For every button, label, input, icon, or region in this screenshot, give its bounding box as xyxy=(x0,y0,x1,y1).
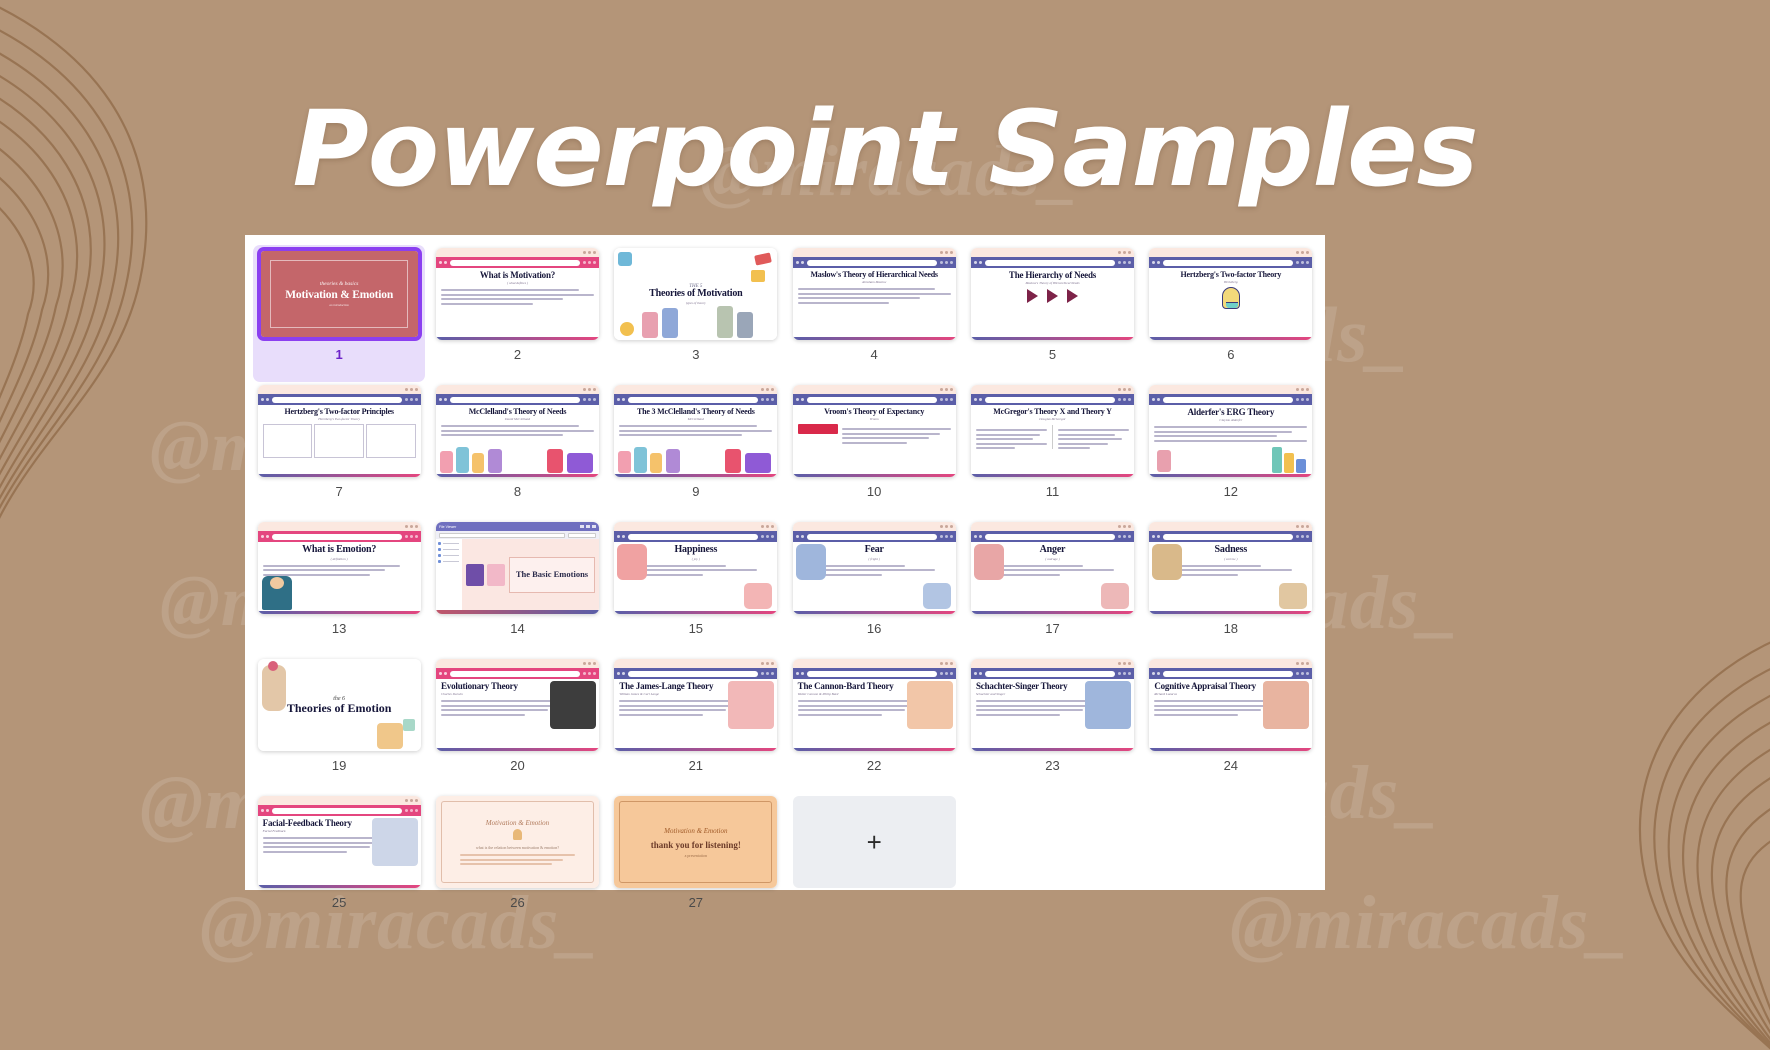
browser-titlebar xyxy=(971,659,1134,668)
slide-illustration xyxy=(456,447,469,473)
slide-thumbnail[interactable]: Sadness ( sorrow ) xyxy=(1149,522,1312,614)
browser-menu-icon xyxy=(940,261,953,264)
explorer-sidebar[interactable] xyxy=(436,539,462,610)
slide-footer-accent xyxy=(436,748,599,751)
browser-toolbar xyxy=(1149,668,1312,679)
slide-number: 16 xyxy=(867,621,881,636)
slide-footer-accent xyxy=(971,337,1134,340)
browser-nav-dots-icon xyxy=(439,261,447,264)
slide-body-text xyxy=(1058,429,1129,449)
slide-thumbnail-orange: Motivation & Emotion thank you for liste… xyxy=(614,796,777,888)
slide-thumbnail[interactable]: File Viewer The Basic Emotions xyxy=(436,522,599,614)
explorer-address-bar[interactable] xyxy=(439,533,565,538)
slide-subtitle: Hertzberg's Two-factor Theory xyxy=(263,417,416,421)
slide-illustration xyxy=(1101,583,1129,609)
slide-thumbnail-browser: Hertzberg's Two-factor Theory Hertzberg xyxy=(1149,248,1312,340)
slide-title: Hertzberg's Two-factor Theory xyxy=(1154,271,1307,279)
slide-content: Maslow's Theory of Hierarchical Needs Ab… xyxy=(793,268,956,337)
slide-thumbnail[interactable]: McClelland's Theory of Needs David McCle… xyxy=(436,385,599,477)
slide-footer-accent xyxy=(971,611,1134,614)
browser-toolbar xyxy=(1149,257,1312,268)
slide-cell-12[interactable]: Alderfer's ERG Theory Clayton Alderfer 1… xyxy=(1145,382,1317,519)
sidebar-item[interactable] xyxy=(438,548,460,551)
slide-content: The Cannon-Bard Theory Walter Cannon & P… xyxy=(793,679,956,748)
browser-toolbar xyxy=(614,394,777,405)
slide-cell-18[interactable]: Sadness ( sorrow ) 18 xyxy=(1145,519,1317,656)
slide-thumbnail[interactable]: Alderfer's ERG Theory Clayton Alderfer xyxy=(1149,385,1312,477)
slide-content: The Hierarchy of Needs Maslow's Theory o… xyxy=(971,268,1134,337)
slide-thumbnail[interactable]: Motivation & Emotion thank you for liste… xyxy=(614,796,777,888)
slide-number: 1 xyxy=(336,347,343,362)
browser-titlebar xyxy=(793,385,956,394)
browser-url-bar[interactable] xyxy=(272,808,402,814)
browser-url-bar[interactable] xyxy=(272,397,402,403)
slide-cell-3[interactable]: THE 5 Theories of Motivation types of th… xyxy=(610,245,782,382)
explorer-body: The Basic Emotions xyxy=(436,539,599,610)
slide-cell-20[interactable]: Evolutionary Theory Charles Darwin 20 xyxy=(431,656,603,793)
slide-cell-10[interactable]: Vroom's Theory of Expectancy Vroom 10 xyxy=(788,382,960,519)
slide-illustration xyxy=(923,583,951,609)
slide-number: 15 xyxy=(689,621,703,636)
slide-footer-accent xyxy=(793,748,956,751)
browser-nav-dots-icon xyxy=(1152,672,1160,675)
browser-nav-dots-icon xyxy=(974,672,982,675)
slide-illustration xyxy=(745,453,771,473)
browser-url-bar[interactable] xyxy=(628,397,758,403)
slide-cell-14[interactable]: File Viewer The Basic Emotions xyxy=(431,519,603,656)
slide-thumbnail-browser: McGregor's Theory X and Theory Y Douglas… xyxy=(971,385,1134,477)
slide-thumbnail[interactable]: THE 5 Theories of Motivation types of th… xyxy=(614,248,777,340)
swirl-bottom-right-icon xyxy=(1410,610,1770,1050)
slide-thumbnail[interactable]: Vroom's Theory of Expectancy Vroom xyxy=(793,385,956,477)
browser-nav-dots-icon xyxy=(617,672,625,675)
slide-number: 23 xyxy=(1045,758,1059,773)
slide-footer-accent xyxy=(971,748,1134,751)
slide-number: 25 xyxy=(332,895,346,910)
slide-footer-accent xyxy=(258,474,421,477)
slide-cell-8[interactable]: McClelland's Theory of Needs David McCle… xyxy=(431,382,603,519)
slide-footer-accent xyxy=(436,474,599,477)
slide-illustration xyxy=(754,252,772,265)
slide-thumbnail[interactable]: Schachter-Singer Theory Schachter and Si… xyxy=(971,659,1134,751)
slide-thumbnail[interactable]: Fear ( fright ) xyxy=(793,522,956,614)
sidebar-item[interactable] xyxy=(438,542,460,545)
slide-cell-13[interactable]: What is Emotion? ( definition ) 13 xyxy=(253,519,425,656)
slide-illustration xyxy=(751,270,765,282)
slide-thumbnail-cream: Motivation & Emotion what is the relatio… xyxy=(436,796,599,888)
slide-thumbnail[interactable]: McGregor's Theory X and Theory Y Douglas… xyxy=(971,385,1134,477)
browser-toolbar xyxy=(436,668,599,679)
browser-menu-icon xyxy=(1118,672,1131,675)
slide-thumbnail[interactable]: What is Motivation? ( what defines ) xyxy=(436,248,599,340)
slide-content: Sadness ( sorrow ) xyxy=(1149,542,1312,611)
slide-content: Fear ( fright ) xyxy=(793,542,956,611)
slide-thumbnail-browser: The Cannon-Bard Theory Walter Cannon & P… xyxy=(793,659,956,751)
browser-menu-icon xyxy=(1296,672,1309,675)
browser-nav-dots-icon xyxy=(261,535,269,538)
slide-footer-accent xyxy=(1149,748,1312,751)
file-thumbnail[interactable] xyxy=(466,564,484,586)
slide-thumbnail[interactable]: Cognitive Appraisal Theory Richard Lazar… xyxy=(1149,659,1312,751)
browser-menu-icon xyxy=(761,398,774,401)
browser-url-bar[interactable] xyxy=(807,671,937,677)
slide-thumbnail[interactable]: What is Emotion? ( definition ) xyxy=(258,522,421,614)
slide-content: Hertzberg's Two-factor Principles Hertzb… xyxy=(258,405,421,474)
table-illustration xyxy=(263,424,416,458)
browser-menu-icon xyxy=(405,809,418,812)
browser-url-bar[interactable] xyxy=(807,397,937,403)
slide-footer-accent xyxy=(1149,474,1312,477)
browser-menu-icon xyxy=(1118,535,1131,538)
slide-illustration xyxy=(488,449,502,473)
slide-subtitle: Abraham Maslow xyxy=(798,280,951,284)
slide-footer-accent xyxy=(258,885,421,888)
slide-illustration xyxy=(550,681,596,729)
slide-number: 6 xyxy=(1227,347,1234,362)
browser-url-bar[interactable] xyxy=(628,534,758,540)
slide-thumbnail[interactable]: theories & basics Motivation & Emotion a… xyxy=(258,248,421,340)
browser-menu-icon xyxy=(761,535,774,538)
slide-cell-23[interactable]: Schachter-Singer Theory Schachter and Si… xyxy=(966,656,1138,793)
slide-illustration xyxy=(1279,583,1307,609)
slide-cell-24[interactable]: Cognitive Appraisal Theory Richard Lazar… xyxy=(1145,656,1317,793)
browser-titlebar xyxy=(971,385,1134,394)
browser-toolbar xyxy=(614,531,777,542)
slide-illustration xyxy=(737,312,753,338)
browser-titlebar xyxy=(1149,522,1312,531)
lightbulb-icon xyxy=(513,829,522,840)
browser-titlebar xyxy=(971,248,1134,257)
browser-nav-dots-icon xyxy=(974,261,982,264)
slide-cell-9[interactable]: The 3 McClelland's Theory of Needs McCle… xyxy=(610,382,782,519)
browser-toolbar xyxy=(258,805,421,816)
slide-cell-27[interactable]: Motivation & Emotion thank you for liste… xyxy=(610,793,782,930)
plus-icon: + xyxy=(867,829,882,855)
file-thumbnail[interactable] xyxy=(487,564,505,586)
slide-title: Alderfer's ERG Theory xyxy=(1154,408,1307,417)
slide-content: THE 5 Theories of Motivation types of th… xyxy=(614,248,777,340)
browser-url-bar[interactable] xyxy=(807,534,937,540)
slide-content: Vroom's Theory of Expectancy Vroom xyxy=(793,405,956,474)
slide-number: 22 xyxy=(867,758,881,773)
browser-menu-icon xyxy=(405,398,418,401)
slide-illustration xyxy=(634,447,647,473)
slide-cell-15[interactable]: Happiness ( joy ) 15 xyxy=(610,519,782,656)
browser-menu-icon xyxy=(405,535,418,538)
slide-thumbnail[interactable]: The Cannon-Bard Theory Walter Cannon & P… xyxy=(793,659,956,751)
browser-url-bar[interactable] xyxy=(985,671,1115,677)
slide-number: 14 xyxy=(510,621,524,636)
slide-thanks-text: thank you for listening! xyxy=(651,840,741,850)
browser-toolbar xyxy=(793,531,956,542)
slide-footer-accent xyxy=(1149,611,1312,614)
slide-number: 7 xyxy=(336,484,343,499)
emotions-card: The Basic Emotions xyxy=(509,557,595,593)
browser-menu-icon xyxy=(1118,398,1131,401)
slide-illustration xyxy=(620,322,634,336)
slide-illustration xyxy=(744,583,772,609)
browser-titlebar xyxy=(1149,385,1312,394)
slide-illustration xyxy=(440,451,453,473)
slide-number: 2 xyxy=(514,347,521,362)
slide-illustration xyxy=(403,719,415,731)
slide-illustration xyxy=(725,449,741,473)
slide-subtitle: Maslow's Theory of Hierarchical Needs xyxy=(976,281,1129,285)
slide-subtitle: ( what defines ) xyxy=(441,281,594,285)
slide-content: Schachter-Singer Theory Schachter and Si… xyxy=(971,679,1134,748)
slide-cell-5[interactable]: The Hierarchy of Needs Maslow's Theory o… xyxy=(966,245,1138,382)
browser-titlebar xyxy=(971,522,1134,531)
browser-url-bar[interactable] xyxy=(1163,397,1293,403)
browser-titlebar xyxy=(258,385,421,394)
browser-titlebar xyxy=(614,522,777,531)
slide-thumbnail-browser: Evolutionary Theory Charles Darwin xyxy=(436,659,599,751)
slide-thumbnail[interactable]: Anger ( outrage ) xyxy=(971,522,1134,614)
slide-number: 12 xyxy=(1224,484,1238,499)
browser-titlebar xyxy=(436,248,599,257)
browser-url-bar[interactable] xyxy=(450,671,580,677)
slide-illustration xyxy=(666,449,680,473)
sidebar-item[interactable] xyxy=(438,560,460,563)
browser-url-bar[interactable] xyxy=(1163,534,1293,540)
slide-content: McClelland's Theory of Needs David McCle… xyxy=(436,405,599,474)
slide-thumbnail-browser: What is Emotion? ( definition ) xyxy=(258,522,421,614)
slide-thumbnail-browser: Hertzberg's Two-factor Principles Hertzb… xyxy=(258,385,421,477)
slide-cell-17[interactable]: Anger ( outrage ) 17 xyxy=(966,519,1138,656)
browser-titlebar xyxy=(793,659,956,668)
slide-cell-19[interactable]: the 6 Theories of Emotion 19 xyxy=(253,656,425,793)
slide-lead-text: what is the relation between motivation … xyxy=(476,845,559,850)
slide-thumbnail[interactable]: the 6 Theories of Emotion xyxy=(258,659,421,751)
slide-thumbnail[interactable]: Maslow's Theory of Hierarchical Needs Ab… xyxy=(793,248,956,340)
lightbulb-icon xyxy=(1154,287,1307,309)
browser-nav-dots-icon xyxy=(261,809,269,812)
slide-subtitle: McClelland xyxy=(619,417,772,421)
slide-footer-accent xyxy=(436,337,599,340)
slide-cell-add[interactable]: + xyxy=(788,793,960,930)
slide-cell-26[interactable]: Motivation & Emotion what is the relatio… xyxy=(431,793,603,930)
browser-url-bar[interactable] xyxy=(985,260,1115,266)
browser-toolbar xyxy=(258,394,421,405)
slide-subtitle: Vroom xyxy=(798,417,951,421)
slide-footer-accent xyxy=(793,611,956,614)
slide-thumbnail-plain: THE 5 Theories of Motivation types of th… xyxy=(614,248,777,340)
slide-thumbnail-browser: Maslow's Theory of Hierarchical Needs Ab… xyxy=(793,248,956,340)
slide-number: 11 xyxy=(1046,484,1060,499)
slide-thumbnail[interactable]: The James-Lange Theory William James & C… xyxy=(614,659,777,751)
slide-illustration xyxy=(1152,544,1182,580)
browser-url-bar[interactable] xyxy=(985,397,1115,403)
slide-thumbnail[interactable]: The 3 McClelland's Theory of Needs McCle… xyxy=(614,385,777,477)
sidebar-item[interactable] xyxy=(438,554,460,557)
slide-cell-11[interactable]: McGregor's Theory X and Theory Y Douglas… xyxy=(966,382,1138,519)
slide-thumbnail-browser: Facial-Feedback Theory Facial Feedback xyxy=(258,796,421,888)
slide-cell-2[interactable]: What is Motivation? ( what defines ) 2 xyxy=(431,245,603,382)
browser-menu-icon xyxy=(1296,535,1309,538)
slide-cell-21[interactable]: The James-Lange Theory William James & C… xyxy=(610,656,782,793)
window-controls-icon[interactable] xyxy=(580,525,596,528)
slide-number: 27 xyxy=(689,895,703,910)
slide-number: 5 xyxy=(1049,347,1056,362)
slide-thumbnail-browser: The 3 McClelland's Theory of Needs McCle… xyxy=(614,385,777,477)
slide-illustration xyxy=(372,818,418,866)
triangle-icon xyxy=(1067,289,1078,303)
slide-title: What is Motivation? xyxy=(441,271,594,280)
slide-thumbnail-browser: McClelland's Theory of Needs David McCle… xyxy=(436,385,599,477)
slide-footer-accent xyxy=(614,611,777,614)
browser-nav-dots-icon xyxy=(974,535,982,538)
browser-titlebar xyxy=(258,796,421,805)
slide-body-text xyxy=(842,428,951,444)
slide-cell-16[interactable]: Fear ( fright ) 16 xyxy=(788,519,960,656)
slide-thumbnail-cover: theories & basics Motivation & Emotion a… xyxy=(261,251,418,337)
browser-nav-dots-icon xyxy=(439,672,447,675)
explorer-toolbar xyxy=(436,531,599,539)
slide-footer-accent xyxy=(614,474,777,477)
triangle-row xyxy=(976,289,1129,303)
slide-illustration xyxy=(728,681,774,729)
slide-thumbnail[interactable]: Happiness ( joy ) xyxy=(614,522,777,614)
slide-thumbnail-browser: Happiness ( joy ) xyxy=(614,522,777,614)
browser-toolbar xyxy=(971,531,1134,542)
browser-titlebar xyxy=(614,385,777,394)
slide-grid: theories & basics Motivation & Emotion a… xyxy=(253,245,1317,930)
slide-cell-25[interactable]: Facial-Feedback Theory Facial Feedback 2… xyxy=(253,793,425,930)
slide-content: What is Emotion? ( definition ) xyxy=(258,542,421,611)
slide-title: McGregor's Theory X and Theory Y xyxy=(976,408,1129,416)
slide-thumbnail-browser: Sadness ( sorrow ) xyxy=(1149,522,1312,614)
slide-illustration xyxy=(642,312,658,338)
slide-thumbnail[interactable]: Evolutionary Theory Charles Darwin xyxy=(436,659,599,751)
slide-thumbnail-explorer: File Viewer The Basic Emotions xyxy=(436,522,599,614)
browser-toolbar xyxy=(258,531,421,542)
browser-nav-dots-icon xyxy=(617,398,625,401)
slide-number: 3 xyxy=(692,347,699,362)
browser-menu-icon xyxy=(1296,398,1309,401)
browser-nav-dots-icon xyxy=(1152,398,1160,401)
slide-thumbnail[interactable]: Facial-Feedback Theory Facial Feedback xyxy=(258,796,421,888)
slide-footer-accent xyxy=(793,337,956,340)
slide-thumbnail-browser: Vroom's Theory of Expectancy Vroom xyxy=(793,385,956,477)
slide-cell-4[interactable]: Maslow's Theory of Hierarchical Needs Ab… xyxy=(788,245,960,382)
expectations-badge xyxy=(798,424,838,434)
slide-number: 26 xyxy=(510,895,524,910)
slide-body-text xyxy=(798,288,951,304)
slide-title: The Hierarchy of Needs xyxy=(976,271,1129,280)
browser-url-bar[interactable] xyxy=(272,534,402,540)
browser-url-bar[interactable] xyxy=(450,260,580,266)
browser-toolbar xyxy=(971,668,1134,679)
slide-title: Theories of Emotion xyxy=(287,702,392,715)
slide-cell-22[interactable]: The Cannon-Bard Theory Walter Cannon & P… xyxy=(788,656,960,793)
slide-content: Facial-Feedback Theory Facial Feedback xyxy=(258,816,421,885)
browser-url-bar[interactable] xyxy=(985,534,1115,540)
slide-thumbnail[interactable]: The Hierarchy of Needs Maslow's Theory o… xyxy=(971,248,1134,340)
browser-url-bar[interactable] xyxy=(807,260,937,266)
slide-thumbnail[interactable]: Hertzberg's Two-factor Principles Hertzb… xyxy=(258,385,421,477)
slide-illustration xyxy=(377,723,403,749)
slide-content: McGregor's Theory X and Theory Y Douglas… xyxy=(971,405,1134,474)
browser-url-bar[interactable] xyxy=(628,671,758,677)
explorer-window-title: File Viewer xyxy=(439,525,456,529)
slide-number: 9 xyxy=(692,484,699,499)
slide-illustration xyxy=(268,661,278,671)
browser-nav-dots-icon xyxy=(796,672,804,675)
slide-thumbnail[interactable]: Motivation & Emotion what is the relatio… xyxy=(436,796,599,888)
slide-number: 20 xyxy=(510,758,524,773)
browser-menu-icon xyxy=(940,535,953,538)
slide-thumbnail-browser: The Hierarchy of Needs Maslow's Theory o… xyxy=(971,248,1134,340)
browser-toolbar xyxy=(614,668,777,679)
browser-menu-icon xyxy=(583,672,596,675)
slide-illustration xyxy=(717,306,733,338)
slide-title: Maslow's Theory of Hierarchical Needs xyxy=(798,271,951,279)
browser-nav-dots-icon xyxy=(439,398,447,401)
slide-number: 24 xyxy=(1224,758,1238,773)
slide-title: Hertzberg's Two-factor Principles xyxy=(263,408,416,416)
explorer-search-input[interactable] xyxy=(568,533,596,538)
browser-toolbar xyxy=(1149,531,1312,542)
slide-content: Hertzberg's Two-factor Theory Hertzberg xyxy=(1149,268,1312,337)
triangle-icon xyxy=(1027,289,1038,303)
slide-footer-accent xyxy=(793,474,956,477)
slide-title: Theories of Motivation xyxy=(649,289,742,300)
slide-cell-7[interactable]: Hertzberg's Two-factor Principles Hertzb… xyxy=(253,382,425,519)
browser-titlebar xyxy=(436,385,599,394)
slide-illustration xyxy=(472,453,484,473)
browser-nav-dots-icon xyxy=(1152,261,1160,264)
slide-body-text xyxy=(460,854,575,865)
slide-content: Evolutionary Theory Charles Darwin xyxy=(436,679,599,748)
browser-menu-icon xyxy=(583,398,596,401)
slide-cell-6[interactable]: Hertzberg's Two-factor Theory Hertzberg … xyxy=(1145,245,1317,382)
slide-illustration xyxy=(1085,681,1131,729)
slide-illustration xyxy=(567,453,593,473)
slide-subtitle: Douglas McGregor xyxy=(976,417,1129,421)
slide-footer-accent xyxy=(258,611,421,614)
cover-eyebrow: theories & basics xyxy=(320,281,359,287)
slide-cell-1[interactable]: theories & basics Motivation & Emotion a… xyxy=(253,245,425,382)
slide-title: McClelland's Theory of Needs xyxy=(441,408,594,416)
browser-titlebar xyxy=(436,659,599,668)
browser-titlebar xyxy=(1149,659,1312,668)
slide-thumbnail-plain-white: the 6 Theories of Emotion xyxy=(258,659,421,751)
slide-thumbnail-browser: What is Motivation? ( what defines ) xyxy=(436,248,599,340)
slide-body-text xyxy=(976,429,1047,449)
slide-illustration xyxy=(270,577,284,589)
browser-toolbar xyxy=(971,394,1134,405)
browser-menu-icon xyxy=(1296,261,1309,264)
browser-url-bar[interactable] xyxy=(1163,260,1293,266)
cover-title: Motivation & Emotion xyxy=(285,289,393,301)
slide-content: Anger ( outrage ) xyxy=(971,542,1134,611)
slide-footer-accent xyxy=(436,610,599,614)
browser-url-bar[interactable] xyxy=(450,397,580,403)
slide-body-text xyxy=(1154,426,1307,442)
browser-url-bar[interactable] xyxy=(1163,671,1293,677)
slide-subtitle: Clayton Alderfer xyxy=(1154,418,1307,422)
slide-content: Cognitive Appraisal Theory Richard Lazar… xyxy=(1149,679,1312,748)
slide-body-text xyxy=(441,289,594,305)
browser-toolbar xyxy=(1149,394,1312,405)
browser-menu-icon xyxy=(940,672,953,675)
add-slide-button[interactable]: + xyxy=(793,796,956,888)
slide-title: The Basic Emotions xyxy=(516,570,588,579)
browser-nav-dots-icon xyxy=(617,535,625,538)
page-title: Powerpoint Samples xyxy=(0,88,1770,210)
slide-illustration xyxy=(1157,450,1171,472)
slide-thumbnail[interactable]: Hertzberg's Two-factor Theory Hertzberg xyxy=(1149,248,1312,340)
